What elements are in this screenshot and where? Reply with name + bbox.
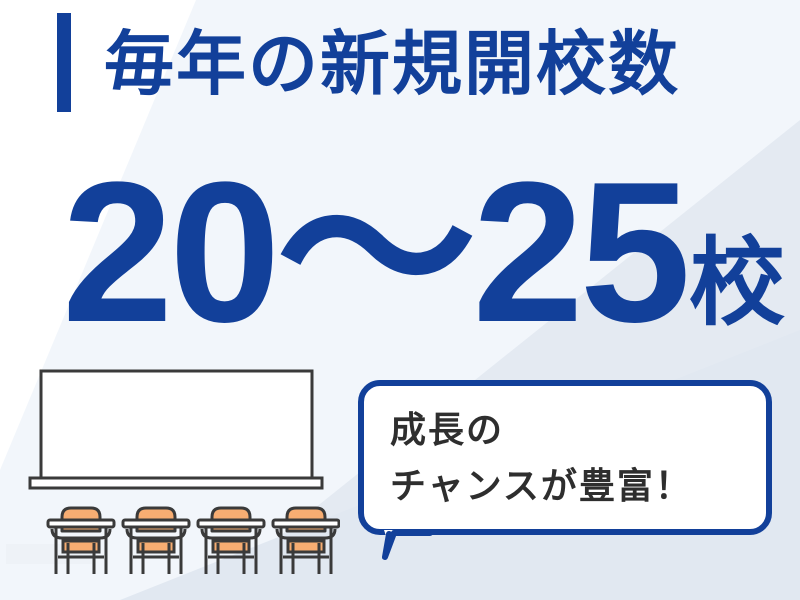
- desk-top: [198, 520, 264, 527]
- whiteboard-marker-1: [226, 466, 243, 474]
- whiteboard-ledge: [30, 478, 322, 488]
- callout-tail: [380, 528, 436, 560]
- stat-unit: 校: [689, 232, 785, 336]
- page-title: 毎年の新規開校数: [104, 16, 680, 112]
- desk-top: [48, 520, 114, 527]
- desk-top: [273, 520, 339, 527]
- stat-block: 20〜25 校: [0, 140, 800, 340]
- stat-value: 20〜25: [62, 165, 687, 340]
- desk-row: [48, 508, 339, 574]
- desk-3: [198, 508, 264, 574]
- promo-banner: 毎年の新規開校数 20〜25 校: [0, 0, 800, 600]
- desk-top: [123, 520, 189, 527]
- callout-bubble: 成長の チャンスが豊富！: [358, 380, 772, 535]
- header: 毎年の新規開校数: [0, 0, 800, 130]
- callout-text: 成長の チャンスが豊富！: [390, 402, 750, 514]
- whiteboard-marker-2: [250, 466, 267, 474]
- desk-1: [48, 508, 114, 574]
- desk-4: [273, 508, 339, 574]
- whiteboard: [30, 371, 322, 488]
- accent-bar: [57, 13, 71, 112]
- desk-2: [123, 508, 189, 574]
- classroom-illustration: [20, 360, 340, 585]
- whiteboard-panel: [41, 371, 312, 478]
